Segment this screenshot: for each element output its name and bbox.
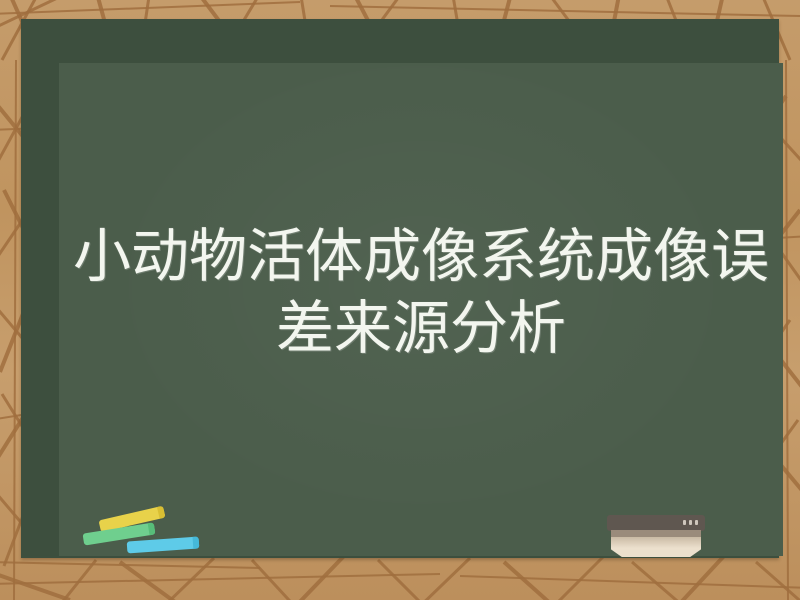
eraser-handle	[607, 515, 705, 531]
eraser-dot	[695, 520, 698, 525]
chalk-group	[83, 511, 203, 561]
blackboard-frame: 小动物活体成像系统成像误 差来源分析	[21, 19, 779, 558]
eraser-felt-shading	[611, 537, 701, 557]
eraser-band	[611, 530, 701, 538]
page-title: 小动物活体成像系统成像误 差来源分析	[59, 63, 783, 483]
chalk-green-tip	[148, 522, 156, 535]
slide-canvas: 小动物活体成像系统成像误 差来源分析	[0, 0, 800, 600]
eraser-dot	[683, 520, 686, 525]
eraser-dots	[683, 520, 698, 525]
chalk-stick-blue[interactable]	[127, 537, 200, 554]
title-line-2: 差来源分析	[276, 293, 566, 365]
title-line-1: 小动物活体成像系统成像误	[73, 221, 769, 293]
chalk-blue-tip	[193, 537, 200, 549]
blackboard-eraser[interactable]	[607, 515, 705, 557]
eraser-dot	[689, 520, 692, 525]
